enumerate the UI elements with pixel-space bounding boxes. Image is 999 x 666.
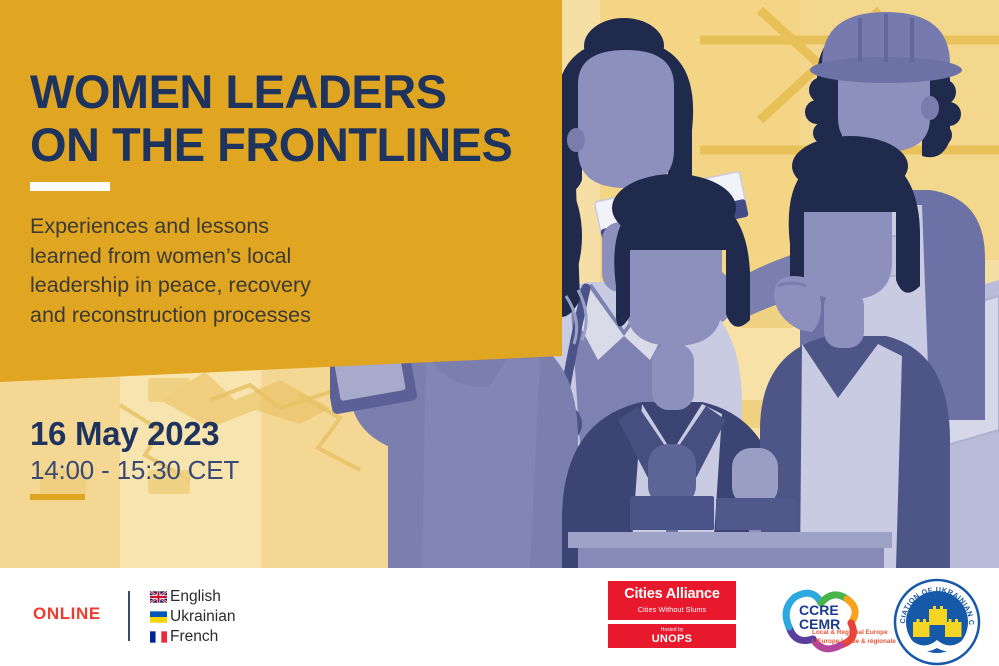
title-accent-bar <box>30 182 110 191</box>
language-list: English Ukrainian French <box>150 587 235 647</box>
language-item-french: French <box>150 627 235 647</box>
language-item-ukrainian: Ukrainian <box>150 607 235 627</box>
cemr-logo: CCRE CEMR Local & Regional Europe L’Euro… <box>755 583 895 661</box>
cities-alliance-badge: Cities Alliance Cities Without Slums <box>608 581 736 620</box>
footer-divider <box>128 591 130 641</box>
language-label-ukrainian: Ukrainian <box>170 608 235 626</box>
subtitle-line-4: and reconstruction processes <box>30 301 430 331</box>
unops-badge: Hosted by UNOPS <box>608 624 736 648</box>
event-poster: WOMEN LEADERS ON THE FRONTLINES Experien… <box>0 0 999 666</box>
cemr-star-icon: CCRE CEMR <box>755 583 895 661</box>
language-label-english: English <box>170 588 221 606</box>
cemr-subtitle: Local & Regional Europe L’Europe locale … <box>812 629 902 646</box>
france-flag-icon <box>150 631 167 643</box>
podium-desk <box>568 532 892 568</box>
cemr-subtitle-en: Local & Regional Europe <box>812 629 902 638</box>
subtitle: Experiences and lessons learned from wom… <box>30 212 430 331</box>
hosted-by-label: Hosted by <box>661 628 684 633</box>
auc-seal-icon: ASSOCIATION OF UKRAINIAN CITIES <box>893 578 981 666</box>
unops-name: UNOPS <box>652 634 693 645</box>
cities-alliance-logo: Cities Alliance Cities Without Slums Hos… <box>608 581 736 648</box>
language-item-english: English <box>150 587 235 607</box>
subtitle-line-3: leadership in peace, recovery <box>30 271 430 301</box>
event-date: 16 May 2023 <box>30 415 219 453</box>
language-label-french: French <box>170 628 218 646</box>
subtitle-line-2: learned from women’s local <box>30 242 430 272</box>
uk-flag-icon <box>150 591 167 603</box>
page-title: WOMEN LEADERS ON THE FRONTLINES <box>30 66 550 171</box>
cemr-subtitle-fr: L’Europe locale & régionale <box>812 638 902 647</box>
association-ukrainian-cities-logo: ASSOCIATION OF UKRAINIAN CITIES <box>893 578 981 666</box>
event-time: 14:00 - 15:30 CET <box>30 455 239 486</box>
headline-line-2: ON THE FRONTLINES <box>30 119 550 172</box>
cities-alliance-name: Cities Alliance <box>624 587 720 602</box>
online-label: ONLINE <box>33 604 101 624</box>
cities-alliance-tagline: Cities Without Slums <box>638 605 706 614</box>
headline-line-1: WOMEN LEADERS <box>30 65 447 118</box>
ukraine-flag-icon <box>150 611 167 623</box>
date-accent-bar <box>30 494 85 500</box>
subtitle-line-1: Experiences and lessons <box>30 212 430 242</box>
